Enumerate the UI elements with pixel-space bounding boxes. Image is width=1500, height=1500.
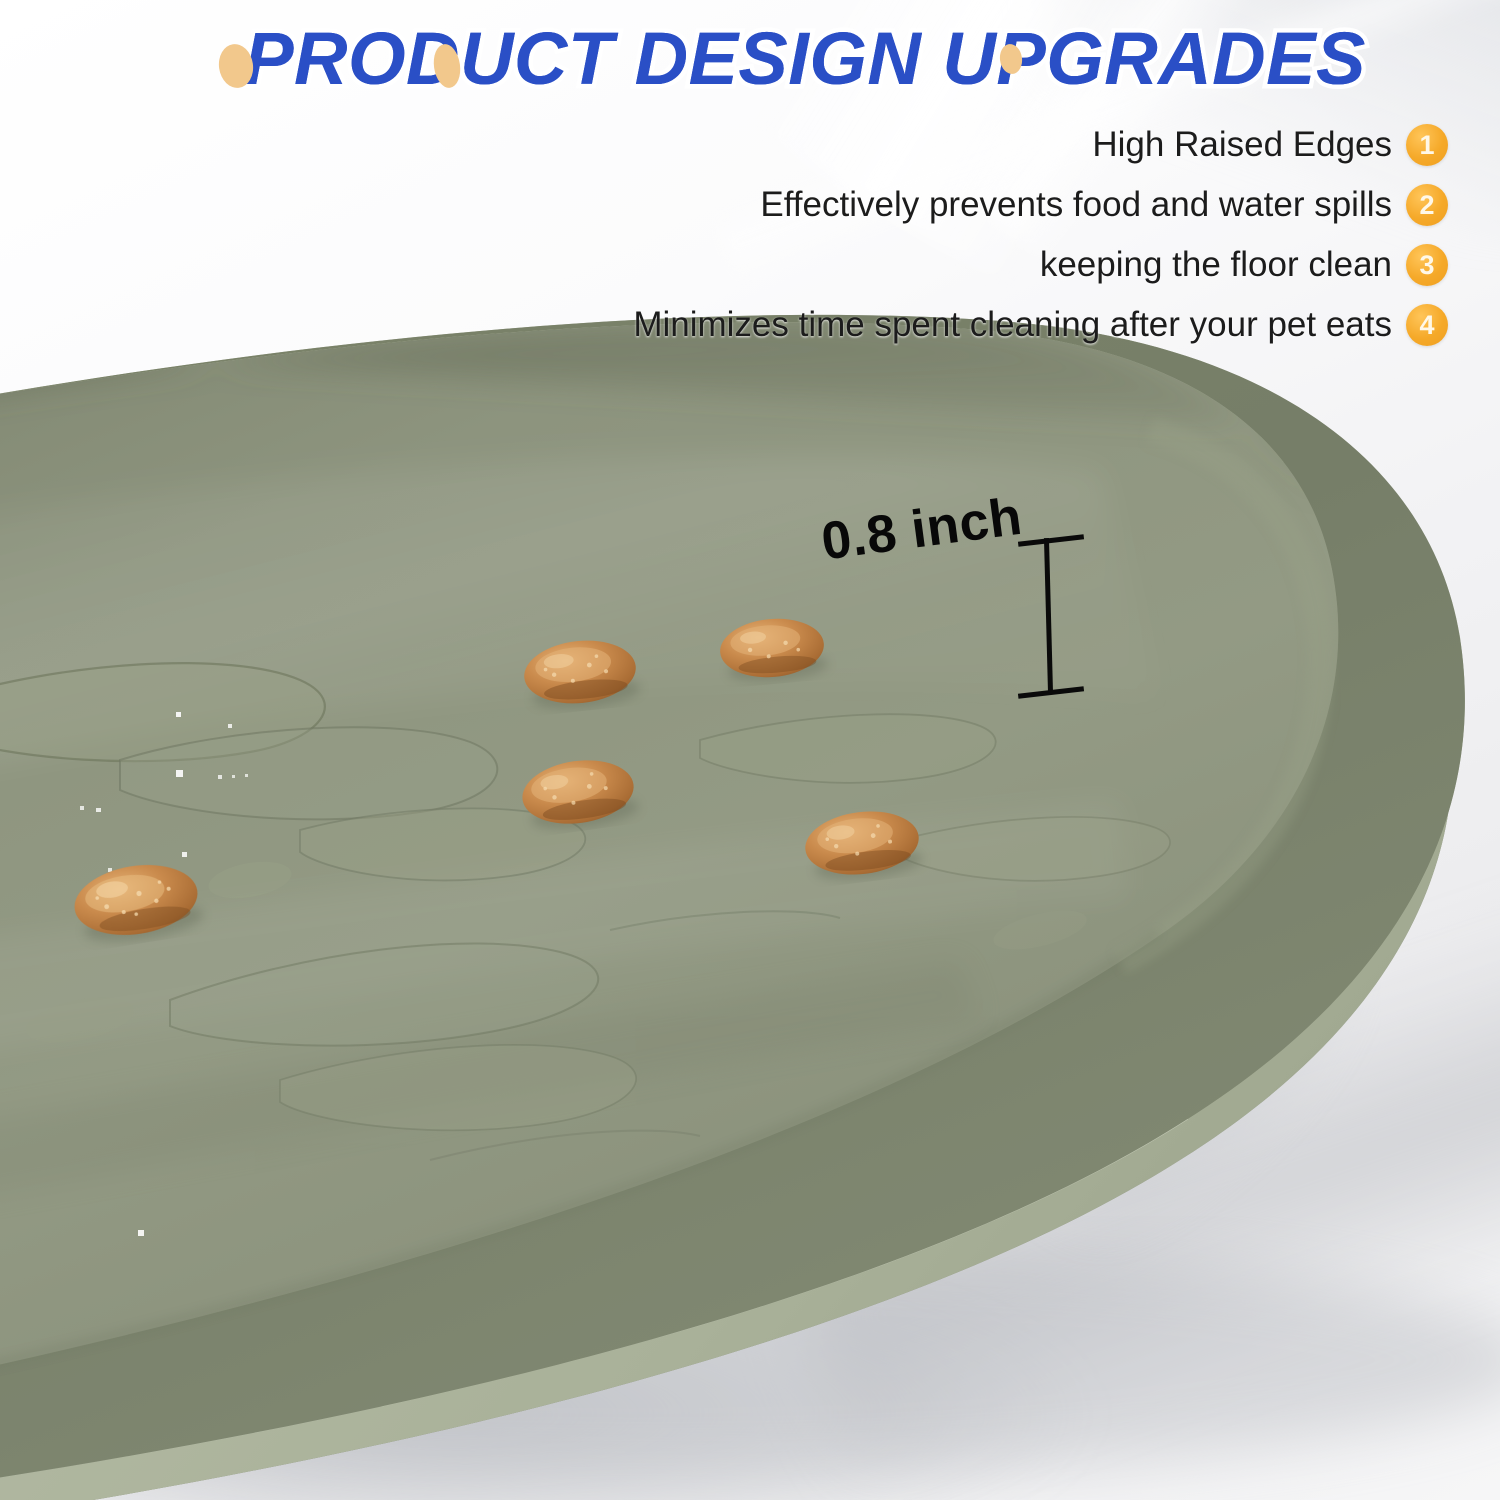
list-item: keeping the floor clean 3 (1040, 244, 1448, 286)
feature-number-badge: 4 (1406, 304, 1448, 346)
feature-number-badge: 1 (1406, 124, 1448, 166)
feature-label: Effectively prevents food and water spil… (760, 187, 1392, 224)
dimension-cap-top (1018, 534, 1084, 546)
list-item: Effectively prevents food and water spil… (760, 184, 1448, 226)
list-item: High Raised Edges 1 (1092, 124, 1448, 166)
feature-list: High Raised Edges 1 Effectively prevents… (633, 124, 1448, 346)
floor-shadow (0, 1310, 1100, 1500)
product-feature-image: PRODUCT DESIGN UPGRADES PRODUCT DESIGN U… (0, 0, 1500, 1500)
dimension-line (1044, 538, 1053, 694)
feature-number-badge: 3 (1406, 244, 1448, 286)
feature-number-badge: 2 (1406, 184, 1448, 226)
feature-label: Minimizes time spent cleaning after your… (633, 307, 1392, 344)
page-title-fill: PRODUCT DESIGN UPGRADES (120, 22, 1490, 96)
feature-label: keeping the floor clean (1040, 247, 1392, 284)
dimension-measure-bar (1018, 532, 1088, 700)
list-item: Minimizes time spent cleaning after your… (633, 304, 1448, 346)
feature-label: High Raised Edges (1092, 127, 1392, 164)
